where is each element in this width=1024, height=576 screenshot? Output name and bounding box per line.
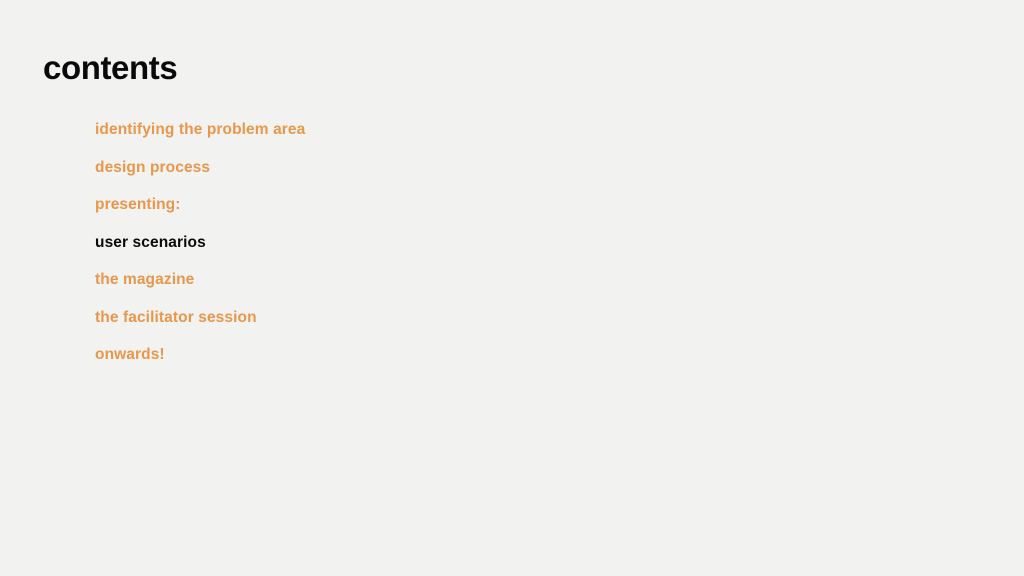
contents-item-label: presenting: [95, 196, 181, 213]
presentation-slide: contents identifying the problem area de… [0, 0, 1024, 576]
contents-list: identifying the problem area design proc… [95, 122, 305, 385]
contents-item-2[interactable]: presenting: [95, 197, 305, 235]
contents-item-label: the facilitator session [95, 309, 257, 326]
contents-item-4[interactable]: the magazine [95, 272, 305, 310]
contents-item-label: identifying the problem area [95, 121, 305, 138]
contents-item-label: the magazine [95, 271, 194, 288]
contents-item-label: design process [95, 159, 210, 176]
contents-item-1[interactable]: design process [95, 160, 305, 198]
contents-item-5[interactable]: the facilitator session [95, 310, 305, 348]
contents-item-label: user scenarios [95, 234, 206, 251]
contents-item-0[interactable]: identifying the problem area [95, 122, 305, 160]
contents-item-label: onwards! [95, 346, 165, 363]
page-title: contents [43, 51, 177, 86]
contents-item-3-current[interactable]: user scenarios [95, 235, 305, 273]
contents-item-6[interactable]: onwards! [95, 347, 305, 385]
